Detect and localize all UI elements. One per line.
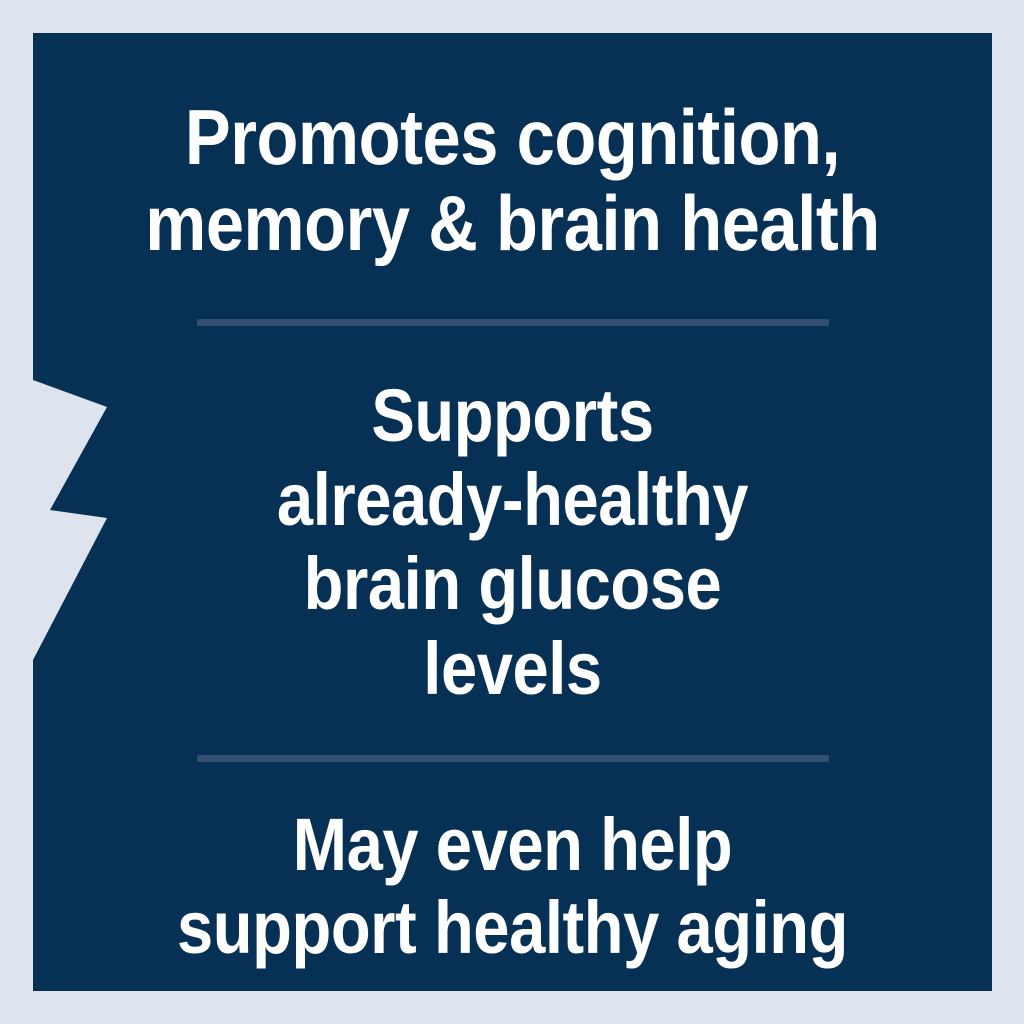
- benefit-item-aging: May even help support healthy aging: [91, 804, 935, 970]
- divider-row-2: [33, 711, 992, 762]
- chevron-right-icon: [0, 0, 1, 1]
- divider-1: [197, 319, 829, 326]
- divider-row-1: [33, 267, 992, 326]
- benefit-item-glucose: Supports already-healthy brain glucose l…: [91, 374, 935, 711]
- benefit-item-cognition: Promotes cognition, memory & brain healt…: [91, 95, 935, 267]
- benefits-list: Promotes cognition, memory & brain healt…: [33, 33, 992, 991]
- benefits-graphic: Promotes cognition, memory & brain healt…: [0, 0, 1024, 1024]
- divider-2: [197, 755, 829, 762]
